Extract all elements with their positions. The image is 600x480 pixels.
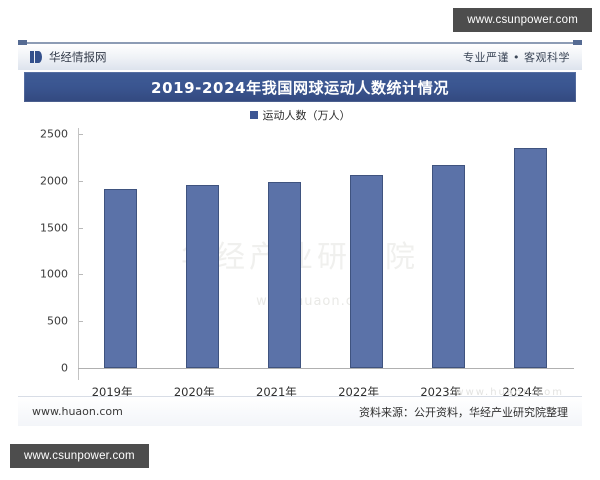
brand-slogan: 专业严谨 • 客观科学 [463,49,570,65]
y-tick-label: 1000 [40,268,68,281]
watermark-top-right: www.csunpower.com [453,8,592,32]
bar-2023年[interactable] [432,165,465,368]
bar-2021年[interactable] [268,182,301,368]
x-axis-line [78,368,574,369]
chart-card: 华经情报网 专业严谨 • 客观科学 2019-2024年我国网球运动人数统计情况… [18,42,582,426]
y-axis: 05001000150020002500 [26,128,78,380]
footer-source-note: 资料来源：公开资料，华经产业研究院整理 [359,404,568,420]
bar-2024年[interactable] [514,148,547,368]
y-tick-label: 2000 [40,174,68,187]
y-tick-label: 500 [47,315,68,328]
card-top-rule [18,42,582,44]
card-footer: www.huaon.com www.huaon.com 资料来源：公开资料，华经… [18,396,582,426]
watermark-bottom-left: www.csunpower.com [10,444,149,468]
huaon-logo-icon [30,51,43,63]
brand: 华经情报网 [30,49,107,65]
chart-title-bar: 2019-2024年我国网球运动人数统计情况 [24,72,576,102]
card-header: 华经情报网 专业严谨 • 客观科学 [18,44,582,70]
card-corner-nub-left [18,40,27,45]
bar-series [79,128,572,380]
footer-site-url: www.huaon.com [32,405,123,418]
y-axis-line [78,128,79,380]
bar-2019年[interactable] [104,189,137,368]
card-corner-nub-right [573,40,582,45]
bar-2020年[interactable] [186,185,219,368]
y-tick-label: 1500 [40,221,68,234]
chart-plot-area: 华经产业研究院 www.huaon.com 050010001500200025… [26,128,574,380]
chart-legend: 运动人数（万人） [18,102,582,128]
y-tick-label: 2500 [40,128,68,141]
bar-2022年[interactable] [350,175,383,368]
legend-label: 运动人数（万人） [263,107,351,123]
legend-swatch-icon [250,111,258,119]
brand-label: 华经情报网 [49,49,107,65]
page-title: 2019-2024年我国网球运动人数统计情况 [151,77,449,98]
y-tick-label: 0 [61,362,68,375]
